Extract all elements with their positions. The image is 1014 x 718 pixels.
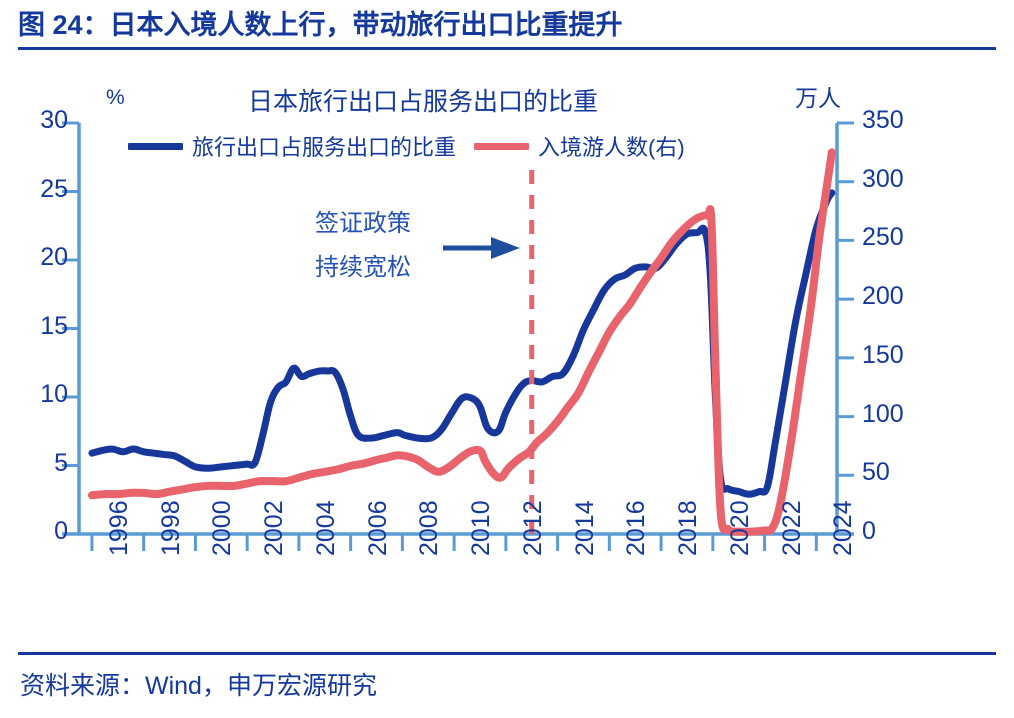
x-axis-tick-label: 2010: [467, 500, 496, 556]
right-axis-tick-label: 250: [862, 223, 932, 252]
left-axis-tick-label: 25: [8, 175, 68, 204]
chart-legend: 旅行出口占服务出口的比重 入境游人数(右): [128, 130, 685, 162]
x-axis-tick-label: 1996: [105, 500, 134, 556]
footer-divider: [18, 652, 996, 655]
chart-container: % 万人 日本旅行出口占服务出口的比重 旅行出口占服务出口的比重 入境游人数(右…: [0, 62, 1014, 642]
left-axis-tick-label: 10: [8, 380, 68, 409]
annotation-line-1: 签证政策: [315, 202, 411, 246]
right-axis-tick-label: 0: [862, 517, 932, 546]
right-axis-tick-label: 350: [862, 106, 932, 135]
header-divider: [18, 47, 996, 50]
source-note: 资料来源：Wind，申万宏源研究: [20, 666, 377, 702]
legend-label-travel-export-share: 旅行出口占服务出口的比重: [192, 130, 456, 162]
series-layer: [92, 152, 832, 532]
x-axis-tick-label: 2014: [571, 500, 600, 556]
figure-header: 图 24：日本入境人数上行，带动旅行出口比重提升: [18, 8, 996, 50]
left-axis-tick-label: 20: [8, 243, 68, 272]
x-axis-tick-label: 2022: [778, 500, 807, 556]
x-axis-tick-label: 2004: [312, 500, 341, 556]
right-axis-tick-label: 100: [862, 400, 932, 429]
x-axis-tick-label: 2008: [415, 500, 444, 556]
x-axis-tick-label: 1998: [157, 500, 186, 556]
x-axis-tick-label: 2016: [622, 500, 651, 556]
legend-item-inbound-tourists[interactable]: 入境游人数(右): [474, 130, 685, 162]
x-axis-tick-label: 2020: [726, 500, 755, 556]
axis-lines: [62, 123, 854, 534]
left-axis-unit-label: %: [106, 86, 125, 110]
left-axis-tick-label: 30: [8, 106, 68, 135]
annotation-layer: [443, 170, 532, 536]
chart-title: 日本旅行出口占服务出口的比重: [248, 82, 598, 118]
x-axis-tick-label: 2002: [260, 500, 289, 556]
x-axis-tick-label: 2012: [519, 500, 548, 556]
figure-title: 图 24：日本入境人数上行，带动旅行出口比重提升: [18, 8, 996, 42]
legend-swatch-red: [474, 143, 529, 150]
annotation-arrow-icon: [443, 237, 520, 259]
annotation-line-2: 持续宽松: [315, 246, 411, 290]
right-axis-tick-label: 50: [862, 458, 932, 487]
x-axis-tick-label: 2024: [829, 500, 858, 556]
left-axis-tick-label: 15: [8, 312, 68, 341]
x-axis-tick-label: 2018: [674, 500, 703, 556]
right-axis-tick-label: 300: [862, 165, 932, 194]
left-axis-tick-label: 0: [8, 517, 68, 546]
x-axis-tick-label: 2006: [364, 500, 393, 556]
right-axis-unit-label: 万人: [795, 79, 841, 113]
legend-swatch-blue: [128, 143, 183, 150]
visa-policy-annotation: 签证政策 持续宽松: [315, 202, 411, 290]
x-axis-tick-label: 2000: [208, 500, 237, 556]
left-axis-tick-label: 5: [8, 449, 68, 478]
right-axis-tick-label: 150: [862, 341, 932, 370]
right-axis-tick-label: 200: [862, 282, 932, 311]
legend-label-inbound-tourists: 入境游人数(右): [538, 130, 685, 162]
series-line-2: [92, 152, 832, 532]
legend-item-travel-export-share[interactable]: 旅行出口占服务出口的比重: [128, 130, 456, 162]
